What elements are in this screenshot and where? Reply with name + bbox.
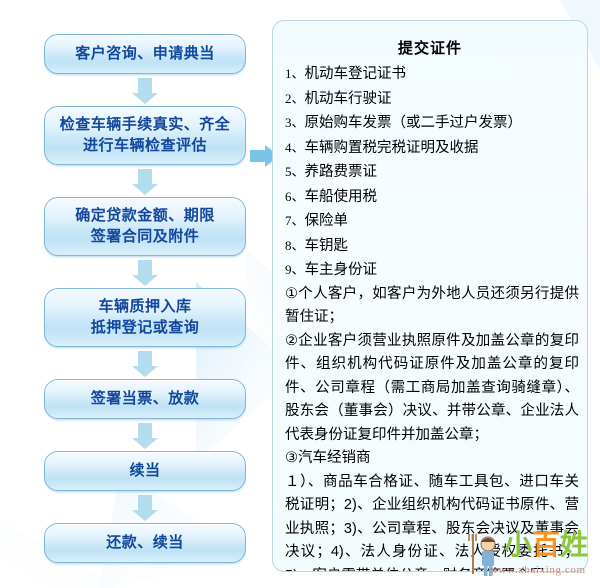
document-item-number: 7、 [285,213,305,228]
document-item-number: 1、 [285,66,305,81]
arrow-down-head [132,275,158,286]
document-item-number: 8、 [285,238,305,253]
flow-node-7-line-1: 还款、续当 [51,532,239,553]
document-item-label: 车船使用税 [305,189,378,205]
flow-node-3[interactable]: 确定贷款金额、期限 签署合同及附件 [44,197,246,256]
arrow-down-icon [44,165,246,197]
arrow-down-head [132,184,158,195]
flow-node-6[interactable]: 续当 [44,451,246,491]
arrow-down-icon [44,419,246,451]
arrow-down-head [132,366,158,377]
document-item-label: 养路费票证 [305,164,378,180]
arrow-down-stem [138,495,152,510]
panel-body: 1、机动车登记证书 2、机动车行驶证 3、原始购车发票（或二手过户发票） 4、车… [273,62,587,572]
note-paragraph-2: ②企业客户须营业执照原件及加盖公章的复印件、组织机构代码证原件及加盖公章的复印件… [285,330,579,448]
document-item-number: 3、 [285,115,305,130]
watermark-brand: 小百姓 [504,530,588,560]
flow-node-2-line-1: 检查车辆手续真实、齐全 [51,114,239,135]
arrow-down-stem [138,423,152,438]
flow-node-5-line-1: 签署当票、放款 [51,388,239,409]
flow-node-5[interactable]: 签署当票、放款 [44,379,246,419]
document-item-number: 2、 [285,91,305,106]
flow-node-7[interactable]: 还款、续当 [44,523,246,563]
flow-node-2[interactable]: 检查车辆手续真实、齐全 进行车辆检查评估 [44,106,246,165]
site-watermark: 小百姓 www.xbaixing.com [468,528,598,586]
flow-node-1[interactable]: 客户咨询、申请典当 [44,34,246,74]
arrow-down-head [132,93,158,104]
flow-node-1-line-1: 客户咨询、申请典当 [51,43,239,64]
document-item-number: 9、 [285,262,305,277]
flow-node-6-line-1: 续当 [51,460,239,481]
required-documents-panel: 提交证件 1、机动车登记证书 2、机动车行驶证 3、原始购车发票（或二手过户发票… [272,20,588,572]
note-paragraph-1: ①个人客户，如客户为外地人员还须另行提供暂住证； [285,283,579,330]
arrow-down-head [132,510,158,521]
document-item: 8、车钥匙 [285,234,579,259]
document-item-label: 机动车行驶证 [305,91,392,107]
note-paragraph-3: ③汽车经销商 [285,447,579,471]
arrow-down-icon [44,74,246,106]
document-item-label: 车钥匙 [305,238,349,254]
document-item-number: 4、 [285,140,305,155]
flow-node-4-line-2: 抵押登记或查询 [51,317,239,338]
document-item-label: 原始购车发票（或二手过户发票） [305,115,523,131]
document-item: 4、车辆购置税完税证明及收据 [285,136,579,161]
document-item: 2、机动车行驶证 [285,87,579,112]
arrow-down-stem [138,260,152,275]
document-item-label: 保险单 [305,213,349,229]
watermark-char-3: 姓 [560,529,588,560]
arrow-down-stem [138,169,152,184]
arrow-down-stem [138,78,152,93]
document-item-label: 车辆购置税完税证明及收据 [305,140,479,156]
document-item: 6、车船使用税 [285,185,579,210]
flowchart-column: 客户咨询、申请典当 检查车辆手续真实、齐全 进行车辆检查评估 确定贷款金额、期限… [44,34,248,563]
document-item-number: 5、 [285,164,305,179]
document-item: 9、车主身份证 [285,258,579,283]
watermark-char-1: 小 [504,529,532,560]
document-item-label: 车主身份证 [305,262,378,278]
document-item-label: 机动车登记证书 [305,66,407,82]
flow-node-2-line-2: 进行车辆检查评估 [51,135,239,156]
flow-node-3-line-2: 签署合同及附件 [51,226,239,247]
arrow-down-icon [44,491,246,523]
arrow-down-icon [44,347,246,379]
flow-node-4[interactable]: 车辆质押入库 抵押登记或查询 [44,288,246,347]
arrow-right-stem [250,150,266,162]
arrow-down-head [132,438,158,449]
flow-node-4-line-1: 车辆质押入库 [51,296,239,317]
flow-node-3-line-1: 确定贷款金额、期限 [51,205,239,226]
watermark-url: www.xbaixing.com [490,564,586,576]
document-item: 1、机动车登记证书 [285,62,579,87]
document-item: 7、保险单 [285,209,579,234]
document-item-number: 6、 [285,189,305,204]
arrow-down-stem [138,351,152,366]
document-item: 5、养路费票证 [285,160,579,185]
watermark-char-2: 百 [532,529,560,560]
document-item: 3、原始购车发票（或二手过户发票） [285,111,579,136]
panel-title: 提交证件 [273,37,587,58]
arrow-down-icon [44,256,246,288]
